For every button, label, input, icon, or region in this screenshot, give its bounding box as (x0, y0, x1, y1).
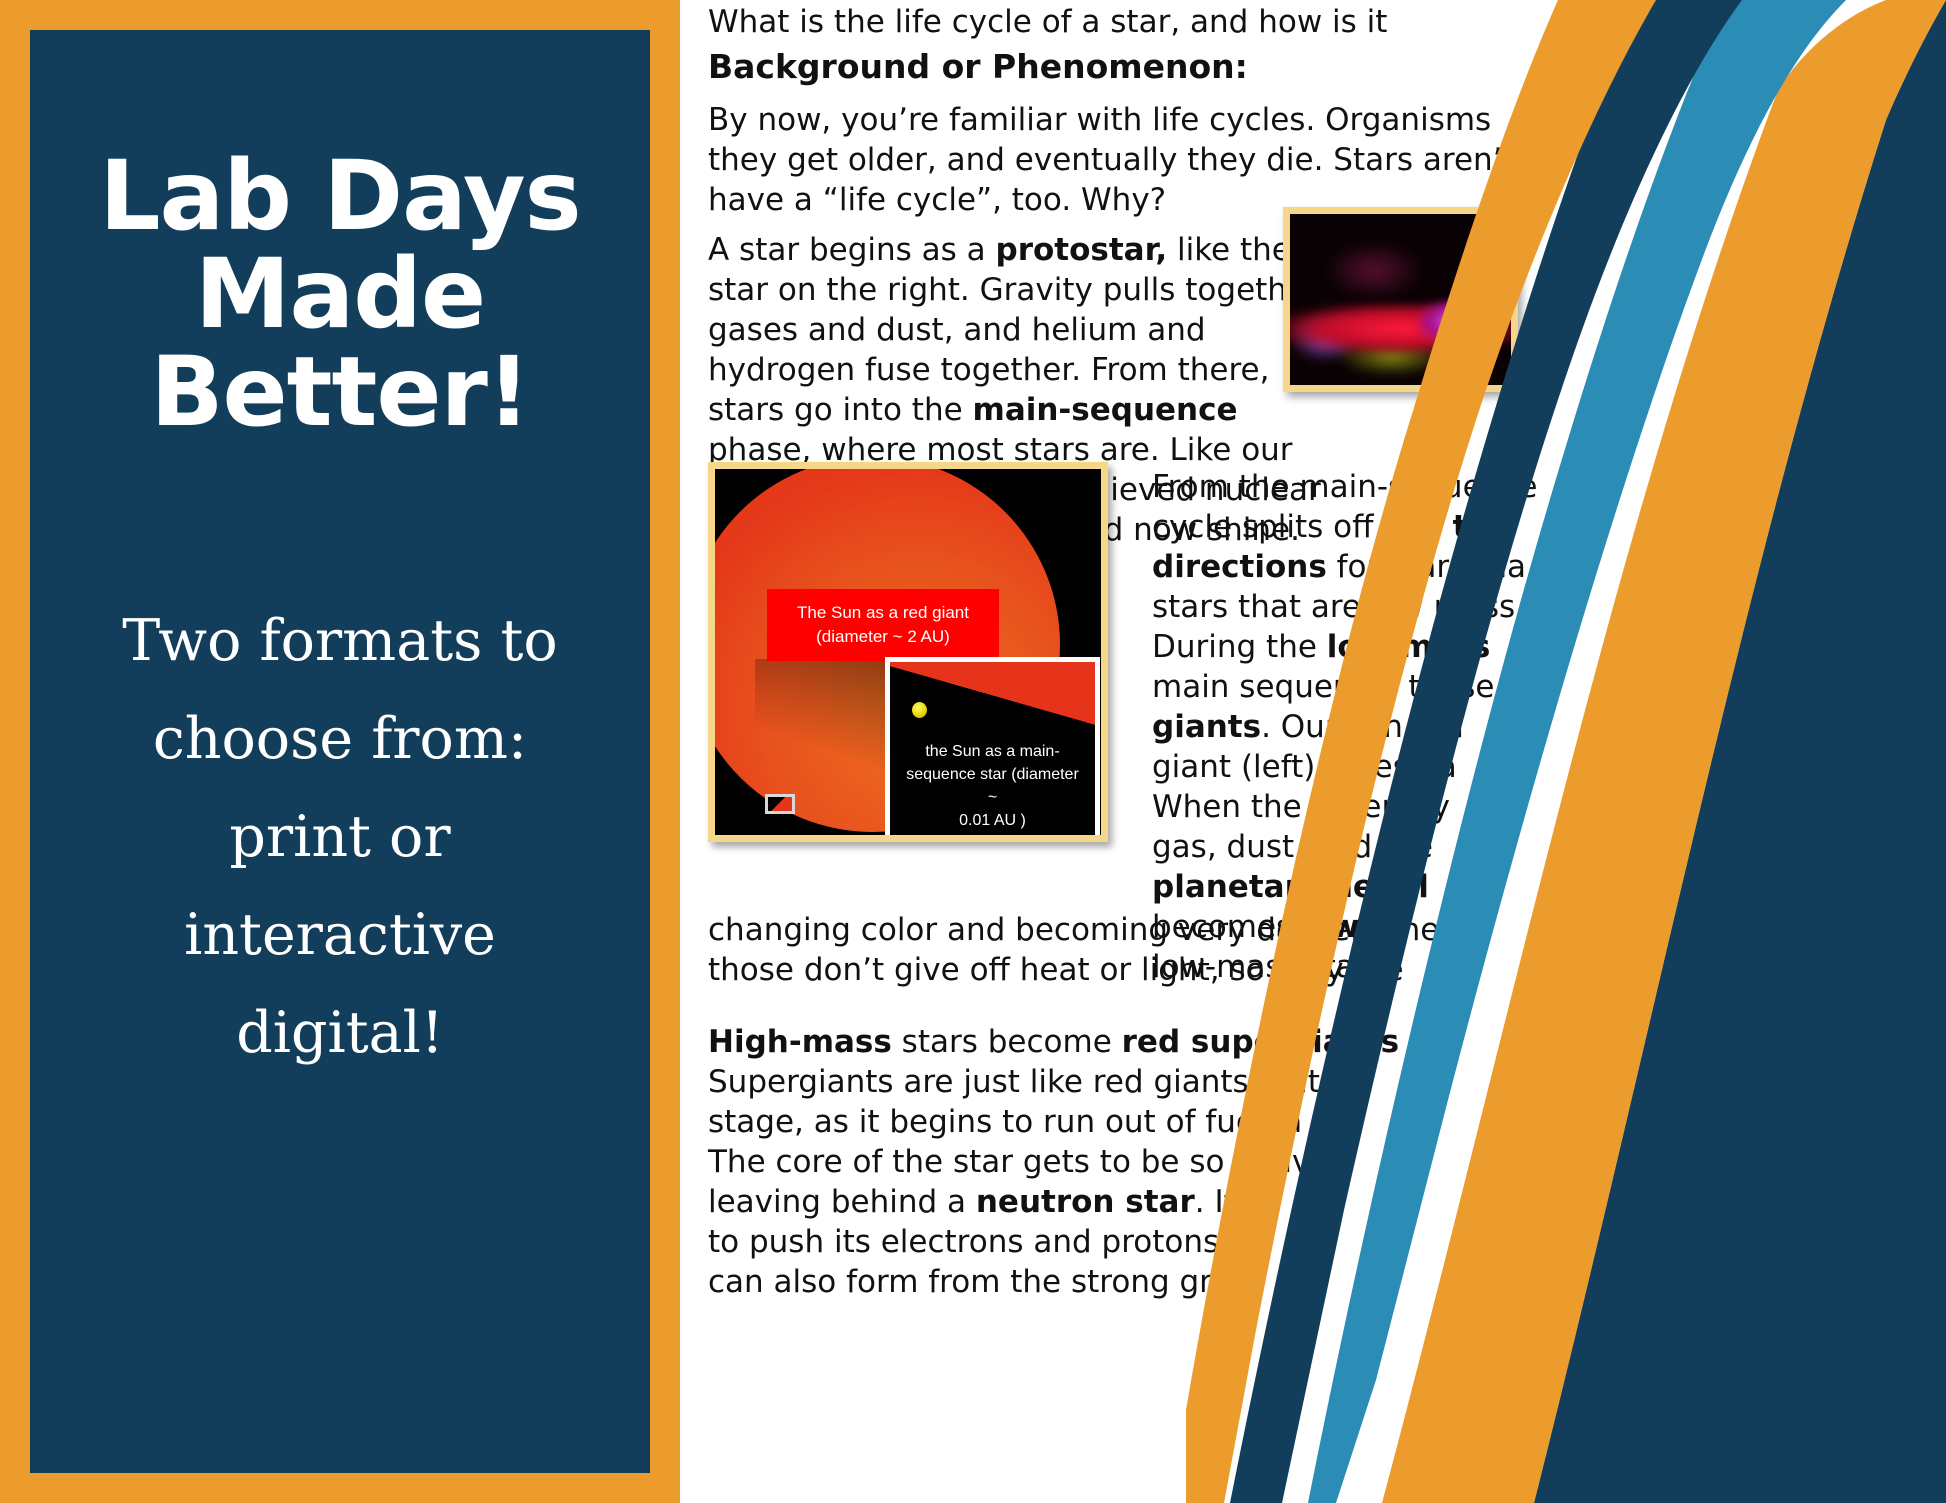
paragraph-4-line-2: main sequence, these (1152, 667, 1495, 707)
promo-panel: Lab Days Made Better! Two formats to cho… (0, 0, 680, 1503)
page-title-line-3: Better! (56, 344, 624, 442)
paragraph-2-line-3: gases and dust, and helium and (708, 310, 1321, 350)
paragraph-3-line-1: From the main-sequence (1152, 467, 1537, 507)
paragraph-5: changing color and becoming very dense. … (708, 910, 1439, 990)
worksheet-page: What is the life cycle of a star, and ho… (694, 0, 1946, 1503)
paragraph-4-line-5: When the outer lay (1152, 787, 1495, 827)
page-title-line-2: Made (56, 246, 624, 344)
poster-canvas: What is the life cycle of a star, and ho… (0, 0, 1946, 1503)
paragraph-2-line-2: star on the right. Gravity pulls togethe… (708, 270, 1321, 310)
paragraph-6-line-4: The core of the star gets to be so heav (708, 1142, 1399, 1182)
paragraph-6-line-3: stage, as it begins to run out of fuel, … (708, 1102, 1399, 1142)
red-giant-label-line-2: (diameter ~ 2 AU) (783, 625, 983, 649)
nebula-core (1290, 214, 1511, 385)
paragraph-1: By now, you’re familiar with life cycles… (708, 100, 1515, 220)
paragraph-1-line-1: By now, you’re familiar with life cycles… (708, 100, 1515, 140)
paragraph-4-line-4: giant (left). These a (1152, 747, 1495, 787)
page-title-line-1: Lab Days (56, 148, 624, 246)
paragraph-3-line-3: directions for stars tha (1152, 547, 1537, 587)
paragraph-1-line-2: they get older, and eventually they die.… (708, 140, 1515, 180)
paragraph-2-line-5: stars go into the main-sequence (708, 390, 1321, 430)
nebula-glow-e (1330, 245, 1418, 296)
paragraph-5-line-2: those don’t give off heat or light, so t… (708, 950, 1439, 990)
protostar-nebula-photo (1283, 207, 1518, 392)
paragraph-4-line-3: giants. Our sun will (1152, 707, 1495, 747)
promo-panel-inner: Lab Days Made Better! Two formats to cho… (30, 30, 650, 1473)
promo-subtitle: Two formats to choose from: print or int… (56, 592, 624, 1082)
promo-subtitle-line-4: interactive (56, 886, 624, 984)
paragraph-3-line-2: cycle splits off into two (1152, 507, 1537, 547)
inset-caption-line-1: the Sun as a main- (900, 740, 1085, 763)
paragraph-2-line-1: A star begins as a protostar, like the (708, 230, 1321, 270)
sun-dot-icon (912, 702, 927, 718)
paragraph-4-line-7: planetary nebul (1152, 867, 1495, 907)
question-line: What is the life cycle of a star, and ho… (708, 2, 1387, 43)
inset-caption-line-3: 0.01 AU ) (900, 809, 1085, 832)
red-giant-label: The Sun as a red giant (diameter ~ 2 AU) (767, 589, 999, 661)
paragraph-6: High-mass stars become red supergiants S… (708, 1022, 1399, 1302)
inset-caption: the Sun as a main- sequence star (diamet… (890, 734, 1095, 838)
inset-wedge (890, 658, 1100, 740)
page-title: Lab Days Made Better! (56, 148, 624, 442)
paragraph-6-line-2: Supergiants are just like red giants, bu… (708, 1062, 1399, 1102)
red-giant-diagram: The Sun as a red giant (diameter ~ 2 AU)… (708, 462, 1108, 842)
red-giant-label-line-1: The Sun as a red giant (783, 601, 983, 625)
promo-subtitle-line-2: choose from: (56, 690, 624, 788)
paragraph-4-line-6: gas, dust, and the (1152, 827, 1495, 867)
section-heading: Background or Phenomenon: (708, 44, 1248, 90)
scale-swatch-icon (765, 794, 795, 814)
paragraph-3-line-4: stars that are low mass (1152, 587, 1537, 627)
promo-subtitle-line-1: Two formats to (56, 592, 624, 690)
paragraph-2-line-4: hydrogen fuse together. From there, (708, 350, 1321, 390)
main-sequence-inset: the Sun as a main- sequence star (diamet… (885, 657, 1100, 842)
paragraph-6-line-1: High-mass stars become red supergiants (708, 1022, 1399, 1062)
paragraph-6-line-5: leaving behind a neutron star. Its i (708, 1182, 1399, 1222)
paragraph-6-line-6: to push its electrons and protons to (708, 1222, 1399, 1262)
paragraph-3: From the main-sequence cycle splits off … (1152, 467, 1537, 627)
nebula-glow-b (1418, 300, 1498, 344)
promo-subtitle-line-3: print or (56, 788, 624, 886)
document-preview-area: What is the life cycle of a star, and ho… (680, 0, 1946, 1503)
inset-caption-line-2: sequence star (diameter ~ (900, 763, 1085, 809)
promo-subtitle-line-5: digital! (56, 984, 624, 1082)
paragraph-4-line-1: During the low-mass (1152, 627, 1495, 667)
paragraph-5-line-1: changing color and becoming very dense. … (708, 910, 1439, 950)
paragraph-6-line-7: can also form from the strong gra (708, 1262, 1399, 1302)
